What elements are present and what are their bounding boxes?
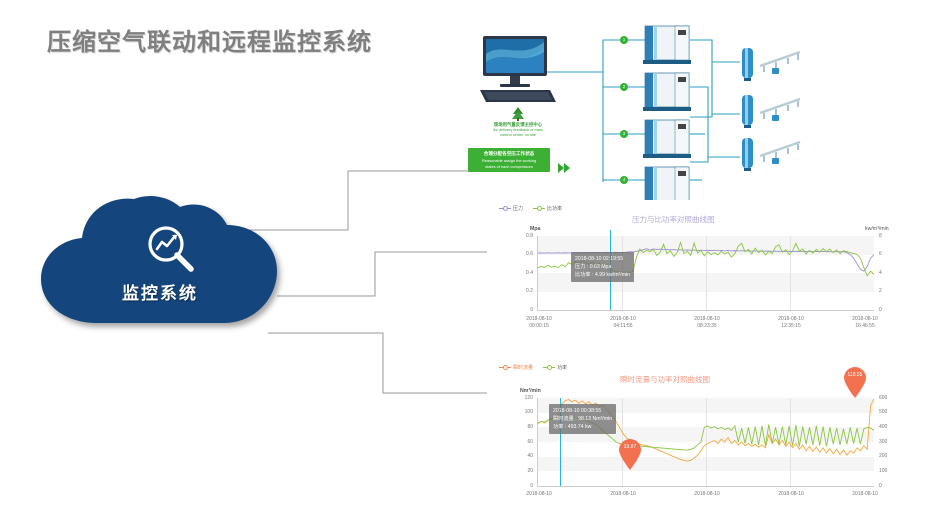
chart2-ytick-right-1: 500: [879, 409, 887, 415]
legend-label-flow: 瞬时流量: [513, 364, 533, 371]
green-box-en-line2: states of each compressors: [470, 164, 548, 169]
chart1-ytick-2: 0.4: [513, 270, 533, 276]
chart1-xtick-0-time: 00:00:15: [529, 323, 548, 329]
node-badge-4: 4: [620, 176, 628, 184]
max-pin-icon: [842, 366, 868, 398]
node-badge-1: 1: [620, 36, 628, 44]
chart1-xtick-2-date: 2018-08-10: [694, 316, 720, 322]
chart2-title: 瞬时流量与功率对照曲线图: [620, 374, 710, 385]
chart1-ytick-right-3: 2: [879, 288, 882, 294]
legend-label-pressure: 压力: [513, 205, 523, 212]
air-compressor-units: [643, 24, 693, 206]
desktop-monitor-icon: [478, 34, 560, 106]
legend-swatch-pressure: [499, 208, 511, 209]
chart1-tooltip-row2: 比功率 : 4.99 kw/m³/min: [575, 271, 630, 279]
schematic-caption-en-line2: control center on site: [458, 133, 578, 138]
chart2-xtick-2: 2018-08-10: [677, 491, 737, 498]
chart2-ytick-4: 40: [513, 453, 533, 459]
monitoring-cloud[interactable]: 监控系统: [35, 195, 285, 330]
chart1-xtick-0-date: 2018-08-10: [526, 316, 552, 322]
chart2-ytick-right-3: 300: [879, 439, 887, 445]
chart1-ytick-3: 0.2: [513, 288, 533, 294]
chart2-ytick-2: 80: [513, 424, 533, 430]
chart1-xtick-3: 2018-08-10 12:35:15: [761, 316, 821, 330]
green-box-cn: 合理分配各空压工作状态: [470, 151, 548, 157]
chart1-xtick-4: 2018-08-10 16:46:55: [835, 316, 895, 330]
green-box-en-line1: Reasonable assign the working: [470, 158, 548, 163]
chart2-ytick-6: 0: [513, 483, 533, 489]
chart1-xtick-2: 2018-08-10 08:23:35: [677, 316, 737, 330]
flow-power-chart: 瞬时流量 功率 瞬时流量与功率对照曲线图 Nm³/min 120 100 80 …: [487, 360, 945, 529]
chart2-legend: 瞬时流量 功率: [499, 364, 567, 371]
chart1-ytick-right-0: 8: [879, 233, 882, 239]
chart1-xtick-3-date: 2018-08-10: [778, 316, 804, 322]
chart1-ylabel-left: Mpa: [530, 226, 540, 232]
chart2-tooltip: 2018-08-10 00:38:55 瞬时流量 : 98.13 Nm³/min…: [549, 404, 616, 434]
legend-swatch-flow: [499, 367, 511, 368]
chart1-xtick-3-time: 12:35:15: [781, 323, 800, 329]
chart2-ytick-right-0: 600: [879, 395, 887, 401]
chart2-xtick-1: 2018-08-10: [593, 491, 653, 498]
system-schematic-diagram: 现场用气量反馈主控中心 Air delivery feedback of mai…: [440, 22, 940, 207]
chart1-xtick-1-date: 2018-08-10: [610, 316, 636, 322]
chart2-min-pin-label: 33.87: [617, 444, 643, 450]
storage-tanks-and-pipeline: [738, 42, 873, 182]
chart2-max-pin-label: 118.55: [842, 372, 868, 378]
chart2-xtick-3: 2018-08-10: [761, 491, 821, 498]
chart1-ytick-right-4: 0: [879, 307, 882, 313]
chart1-ytick-4: 0: [513, 307, 533, 313]
chart1-tooltip-timestamp: 2018-08-10 02:19:55: [575, 255, 630, 263]
chart1-xtick-1: 2018-08-10 04:11:55: [593, 316, 653, 330]
green-info-box: 合理分配各空压工作状态 Reasonable assign the workin…: [468, 148, 550, 172]
chart1-ytick-right-1: 6: [879, 251, 882, 257]
node-badge-2: 2: [620, 83, 628, 91]
pressure-power-chart: 压力 比功率 压力与比功率对照曲线图 Mpa kw/m³/min 0.8 0.6…: [487, 200, 945, 335]
chart2-xtick-0: 2018-08-10: [509, 491, 569, 498]
legend-label-specific-power: 比功率: [547, 205, 562, 212]
node-badge-3: 3: [620, 130, 628, 138]
chart1-tooltip-row1: 压力 : 0.63 Mpa: [575, 263, 630, 271]
chart2-min-pin[interactable]: 33.87: [617, 438, 643, 470]
chart1-legend-item-0[interactable]: 压力: [499, 205, 523, 212]
chart1-xtick-4-time: 16:46:55: [855, 323, 874, 329]
chart1-legend-item-1[interactable]: 比功率: [533, 205, 562, 212]
chart1-ytick-1: 0.6: [513, 251, 533, 257]
chart1-xtick-1-time: 04:11:55: [613, 323, 632, 329]
chart2-xtick-4: 2018-08-10: [835, 491, 895, 498]
chart1-xtick-2-time: 08:23:35: [697, 323, 716, 329]
magnifier-chart-icon: [143, 221, 199, 277]
chart1-ytick-right-2: 4: [879, 270, 882, 276]
chart1-xtick-4-date: 2018-08-10: [852, 316, 878, 322]
legend-swatch-power: [543, 367, 555, 368]
chart2-ytick-0: 120: [513, 395, 533, 401]
chart1-title: 压力与比功率对照曲线图: [632, 214, 715, 225]
legend-swatch-specific-power: [533, 208, 545, 209]
chart1-legend: 压力 比功率: [499, 205, 562, 212]
chart2-ytick-3: 60: [513, 439, 533, 445]
chart2-ytick-1: 100: [513, 409, 533, 415]
cloud-label: 监控系统: [35, 279, 285, 304]
right-arrow-icon: [558, 162, 572, 174]
chart2-ytick-5: 20: [513, 468, 533, 474]
chart2-tooltip-row1: 瞬时流量 : 98.13 Nm³/min: [553, 415, 612, 423]
chart2-legend-item-1[interactable]: 功率: [543, 364, 567, 371]
min-pin-icon: [617, 438, 643, 470]
chart2-legend-item-0[interactable]: 瞬时流量: [499, 364, 533, 371]
chart2-tooltip-row2: 功率 : 493.74 kw: [553, 423, 612, 431]
chart2-ytick-right-6: 0: [879, 483, 882, 489]
chart2-ytick-right-2: 400: [879, 424, 887, 430]
chart2-tooltip-timestamp: 2018-08-10 00:38:55: [553, 407, 612, 415]
chart1-ytick-0: 0.8: [513, 233, 533, 239]
chart1-xtick-0: 2018-08-10 00:00:15: [509, 316, 569, 330]
tree-icon: [510, 106, 526, 122]
chart1-ylabel-right: kw/m³/min: [865, 226, 889, 232]
chart2-ytick-right-4: 200: [879, 453, 887, 459]
chart2-ytick-right-5: 100: [879, 468, 887, 474]
legend-label-power: 功率: [557, 364, 567, 371]
chart2-max-pin[interactable]: 118.55: [842, 366, 868, 398]
chart2-ylabel-left: Nm³/min: [520, 388, 541, 394]
chart1-tooltip: 2018-08-10 02:19:55 压力 : 0.63 Mpa 比功率 : …: [571, 252, 634, 282]
